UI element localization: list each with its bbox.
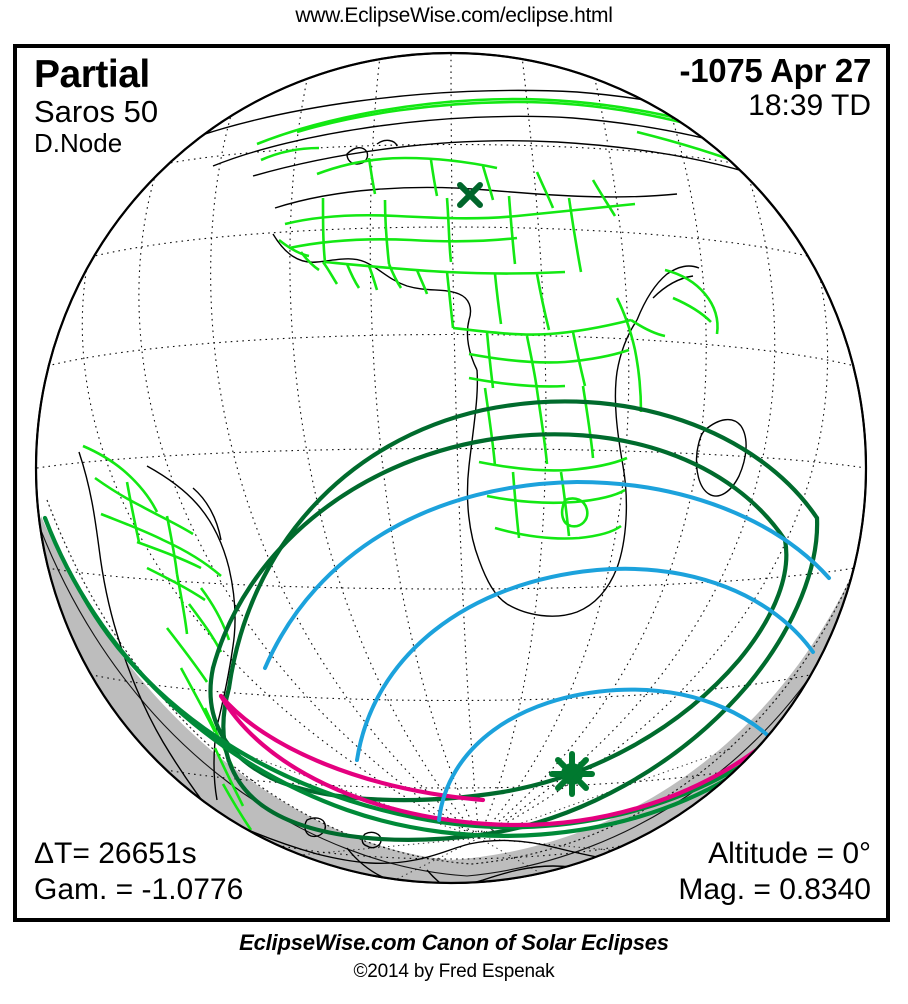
eclipse-map-page: www.EclipseWise.com/eclipse.html — [0, 0, 908, 1004]
annotation-top-right: -1075 Apr 27 18:39 TD — [680, 54, 871, 122]
annotation-bottom-right: Altitude = 0° Mag. = 0.8340 — [678, 838, 871, 906]
map-frame: Partial Saros 50 D.Node -1075 Apr 27 18:… — [13, 44, 890, 922]
page-footer: EclipseWise.com Canon of Solar Eclipses … — [0, 930, 908, 983]
eclipse-time-label: 18:39 TD — [680, 90, 871, 122]
altitude-label: Altitude = 0° — [678, 838, 871, 870]
eclipse-date-label: -1075 Apr 27 — [680, 54, 871, 89]
node-label: D.Node — [34, 130, 158, 158]
map-stage: Partial Saros 50 D.Node -1075 Apr 27 18:… — [17, 48, 886, 918]
footer-copyright: ©2014 by Fred Espenak — [0, 961, 908, 983]
gamma-label: Gam. = -1.0776 — [34, 874, 243, 906]
globe-svg — [17, 48, 886, 918]
annotation-top-left: Partial Saros 50 D.Node — [34, 54, 158, 158]
magnitude-label: Mag. = 0.8340 — [678, 874, 871, 906]
annotation-bottom-left: ΔT= 26651s Gam. = -1.0776 — [34, 838, 243, 906]
sun-position-asterisk-icon — [552, 754, 592, 794]
saros-label: Saros 50 — [34, 96, 158, 129]
eclipse-type-label: Partial — [34, 54, 158, 95]
source-url-header: www.EclipseWise.com/eclipse.html — [0, 4, 908, 28]
footer-title: EclipseWise.com Canon of Solar Eclipses — [0, 930, 908, 956]
delta-t-label: ΔT= 26651s — [34, 838, 243, 870]
